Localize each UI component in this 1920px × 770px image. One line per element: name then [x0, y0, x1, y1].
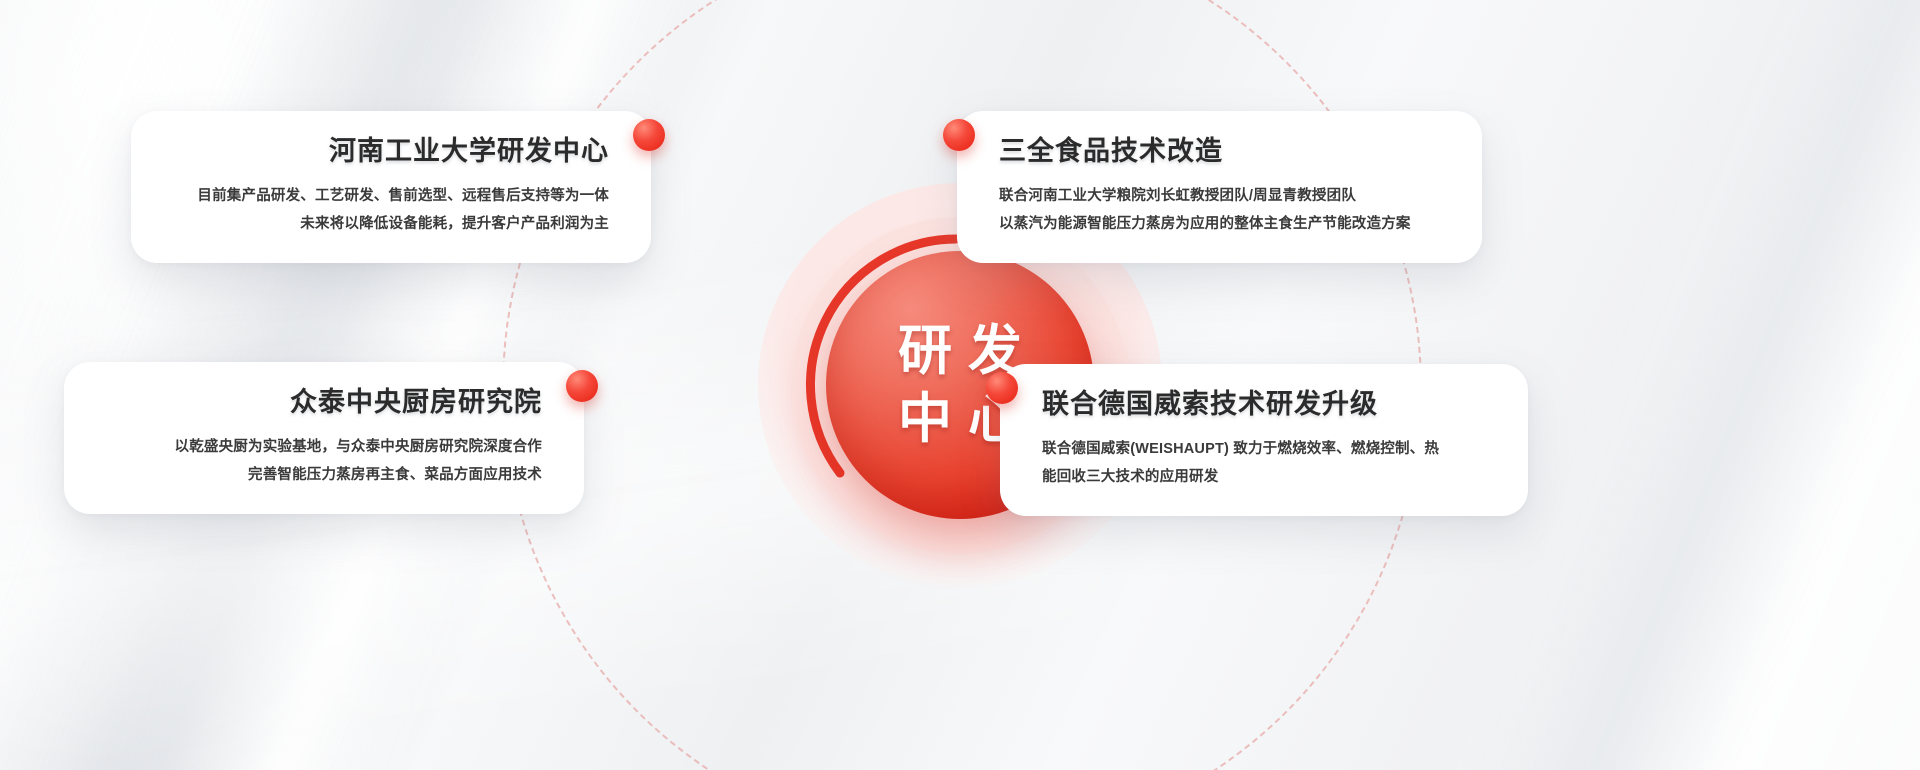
card-title: 河南工业大学研发中心	[173, 129, 609, 168]
card-title: 三全食品技术改造	[999, 129, 1440, 168]
card-body: 目前集产品研发、工艺研发、售前选型、远程售后支持等为一体 未来将以降低设备能耗，…	[173, 182, 609, 239]
card-body: 联合德国威索(WEISHAUPT) 致力于燃烧效率、燃烧控制、热 能回收三大技术…	[1042, 435, 1486, 492]
card-zhongtai-central-kitchen-institute[interactable]: 众泰中央厨房研究院 以乾盛央厨为实验基地，与众泰中央厨房研究院深度合作 完善智能…	[64, 362, 584, 514]
card-body-line: 目前集产品研发、工艺研发、售前选型、远程售后支持等为一体	[173, 182, 609, 210]
red-dot-icon	[566, 370, 598, 402]
rd-center-infographic: 研发 中心 河南工业大学研发中心 目前集产品研发、工艺研发、售前选型、远程售后支…	[0, 0, 1920, 770]
card-title: 众泰中央厨房研究院	[106, 380, 542, 419]
card-body-line: 联合德国威索(WEISHAUPT) 致力于燃烧效率、燃烧控制、热	[1042, 435, 1486, 463]
red-dot-icon	[986, 372, 1018, 404]
red-dot-icon	[633, 119, 665, 151]
card-body-line: 联合河南工业大学粮院刘长虹教授团队/周显青教授团队	[999, 182, 1440, 210]
card-weishaupt-joint-rd-upgrade[interactable]: 联合德国威索技术研发升级 联合德国威索(WEISHAUPT) 致力于燃烧效率、燃…	[1000, 364, 1528, 516]
card-body: 联合河南工业大学粮院刘长虹教授团队/周显青教授团队 以蒸汽为能源智能压力蒸房为应…	[999, 182, 1440, 239]
card-body-line: 以蒸汽为能源智能压力蒸房为应用的整体主食生产节能改造方案	[999, 210, 1440, 238]
card-body-line: 完善智能压力蒸房再主食、菜品方面应用技术	[106, 461, 542, 489]
card-body: 以乾盛央厨为实验基地，与众泰中央厨房研究院深度合作 完善智能压力蒸房再主食、菜品…	[106, 433, 542, 490]
card-title: 联合德国威索技术研发升级	[1042, 382, 1486, 421]
card-sanquan-food-tech-upgrade[interactable]: 三全食品技术改造 联合河南工业大学粮院刘长虹教授团队/周显青教授团队 以蒸汽为能…	[957, 111, 1482, 263]
red-dot-icon	[943, 119, 975, 151]
card-body-line: 以乾盛央厨为实验基地，与众泰中央厨房研究院深度合作	[106, 433, 542, 461]
card-body-line: 未来将以降低设备能耗，提升客户产品利润为主	[173, 210, 609, 238]
card-body-line: 能回收三大技术的应用研发	[1042, 463, 1486, 491]
card-henan-university-rd-center[interactable]: 河南工业大学研发中心 目前集产品研发、工艺研发、售前选型、远程售后支持等为一体 …	[131, 111, 651, 263]
